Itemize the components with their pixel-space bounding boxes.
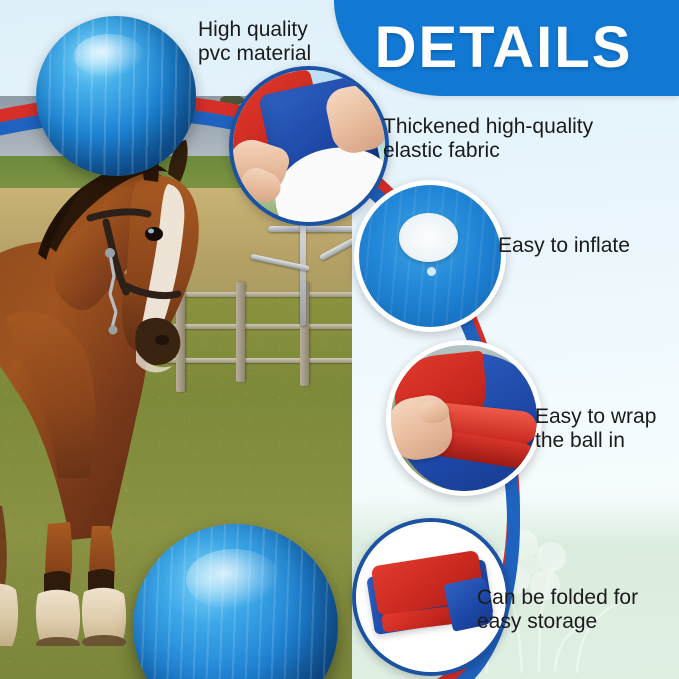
callout-image-easy-inflate	[354, 180, 506, 332]
header-banner: DETAILS	[334, 0, 679, 96]
feature-label-easy-inflate: Easy to inflate	[498, 234, 678, 258]
callout-image-easy-wrap	[386, 340, 542, 496]
feature-label-pvc-material: High quality pvc material	[198, 18, 368, 65]
feature-label-easy-wrap: Easy to wrap the ball in	[535, 405, 679, 452]
feature-label-elastic-fabric: Thickened high-quality elastic fabric	[383, 115, 663, 162]
infographic-canvas: DETAILS High quality pvc material Thicke…	[0, 0, 679, 679]
callout-image-pvc-material	[36, 16, 196, 176]
page-title: DETAILS	[375, 19, 639, 77]
feature-label-foldable-storage: Can be folded for easy storage	[477, 586, 679, 633]
